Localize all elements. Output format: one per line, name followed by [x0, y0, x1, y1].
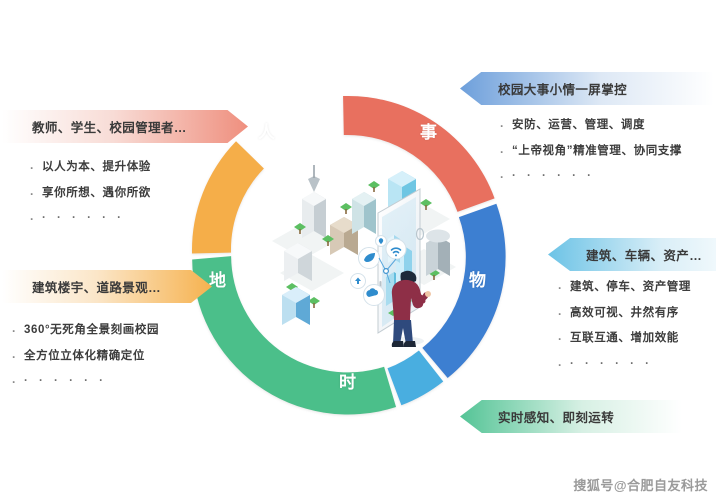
watermark: 搜狐号@合肥自友科技 [573, 475, 708, 494]
bullet-dot: · [558, 359, 570, 372]
list-item: · · · · · · · [12, 376, 159, 389]
bullet-dot: · [12, 376, 24, 389]
bullet-dot: · [500, 146, 512, 159]
bullet-dot: · [558, 333, 570, 346]
list-item: · · · · · · · [30, 213, 151, 226]
bullet-list-people: · 以人为本、提升体验 · 享你所想、遇你所欲 · · · · · · · [30, 162, 151, 239]
bullet-text: “上帝视角”精准管理、协同支撑 [512, 146, 682, 158]
bullet-dot: · [12, 351, 24, 364]
bullet-dot: · [12, 325, 24, 338]
bullet-dot: · [558, 308, 570, 321]
banner-thing[interactable]: 建筑、车辆、资产… [548, 238, 716, 271]
bullet-text: 享你所想、遇你所欲 [42, 188, 151, 200]
bullet-text-ellipsis: · · · · · · [42, 213, 125, 225]
bullet-dot: · [558, 282, 570, 295]
infographic-canvas: 人 事 物 时 地 [0, 0, 716, 500]
list-item: · 360°无死角全景刻画校园 [12, 325, 159, 338]
bullet-list-event: · 安防、运营、管理、调度 · “上帝视角”精准管理、协同支撑 · · · · … [500, 120, 682, 197]
bullet-text-ellipsis: · · · · · · [24, 376, 107, 388]
list-item: · 安防、运营、管理、调度 [500, 120, 682, 133]
list-item: · 互联互通、增加效能 [558, 333, 691, 346]
background-buildings-mid [330, 192, 376, 255]
bullet-dot: · [30, 188, 42, 201]
list-item: · · · · · · · [500, 171, 682, 184]
list-item: · · · · · · · [558, 359, 691, 372]
list-item: · 建筑、停车、资产管理 [558, 282, 691, 295]
bullet-list-place: · 360°无死角全景刻画校园 · 全方位立体化精确定位 · · · · · ·… [12, 325, 159, 402]
bullet-text: 以人为本、提升体验 [42, 162, 151, 174]
banner-people[interactable]: 教师、学生、校园管理者… [2, 110, 248, 143]
bullet-text: 高效可视、井然有序 [570, 308, 679, 320]
banner-place-label: 建筑楼宇、道路景观… [32, 277, 161, 296]
bullet-dot: · [500, 120, 512, 133]
list-item: · 享你所想、遇你所欲 [30, 188, 151, 201]
banner-place[interactable]: 建筑楼宇、道路景观… [2, 270, 212, 303]
list-item: · 全方位立体化精确定位 [12, 351, 159, 364]
bullet-text: 互联互通、增加效能 [570, 333, 679, 345]
smart-city-isometric-illustration [268, 155, 458, 350]
blue-building [282, 287, 310, 325]
bullet-text: 安防、运营、管理、调度 [512, 120, 645, 132]
bullet-text: 建筑、停车、资产管理 [570, 282, 691, 294]
banner-people-label: 教师、学生、校园管理者… [32, 117, 187, 136]
banner-time[interactable]: 实时感知、即刻运转 [460, 400, 682, 433]
list-item: · 高效可视、井然有序 [558, 308, 691, 321]
banner-thing-label: 建筑、车辆、资产… [586, 245, 702, 264]
banner-event-label: 校园大事小情一屏掌控 [498, 79, 627, 98]
list-item: · 以人为本、提升体验 [30, 162, 151, 175]
bullet-dot: · [500, 171, 512, 184]
banner-time-label: 实时感知、即刻运转 [498, 407, 614, 426]
bullet-dot: · [30, 162, 42, 175]
ring-segment-place[interactable] [192, 141, 264, 253]
bullet-text: 360°无死角全景刻画校园 [24, 325, 159, 337]
bullet-text-ellipsis: · · · · · · [512, 171, 595, 183]
bullet-text-ellipsis: · · · · · · [570, 359, 653, 371]
bullet-list-thing: · 建筑、停车、资产管理 · 高效可视、井然有序 · 互联互通、增加效能 · ·… [558, 282, 691, 384]
list-item: · “上帝视角”精准管理、协同支撑 [500, 146, 682, 159]
bullet-dot: · [30, 213, 42, 226]
bullet-text: 全方位立体化精确定位 [24, 351, 145, 363]
smart-city-svg [268, 155, 458, 350]
banner-event[interactable]: 校园大事小情一屏掌控 [460, 72, 714, 105]
